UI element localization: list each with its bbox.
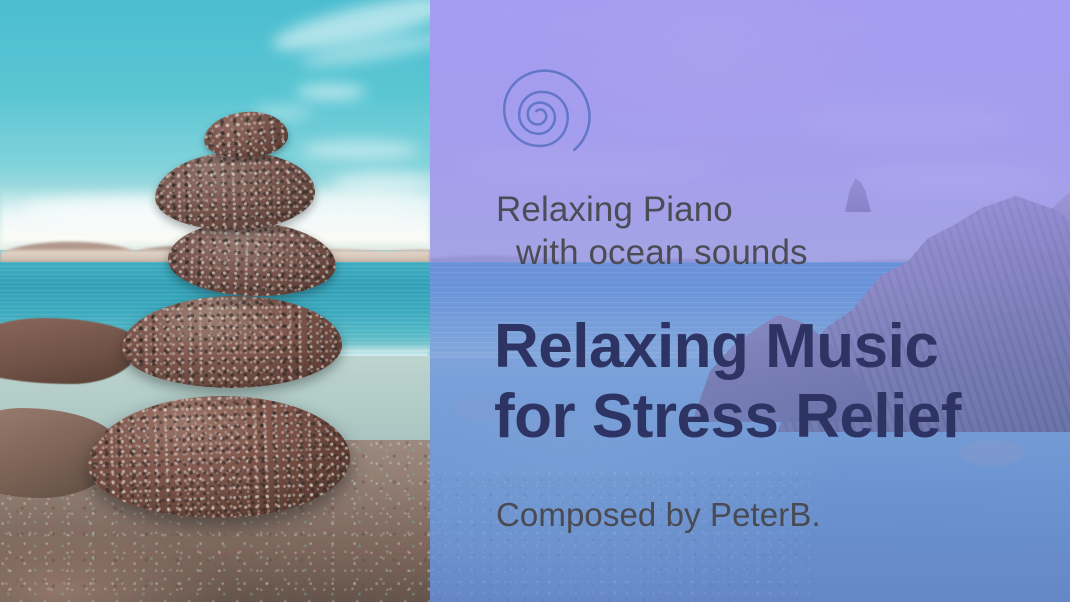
album-cover: Relaxing Piano with ocean sounds Relaxin… xyxy=(0,0,1070,602)
composer-credit: Composed by PeterB. xyxy=(496,494,1056,536)
subtitle-line-2: with ocean sounds xyxy=(496,231,1056,274)
subtitle-line-1: Relaxing Piano xyxy=(496,188,1056,231)
spiral-icon xyxy=(498,60,594,162)
title-line-1: Relaxing Music xyxy=(494,312,1064,382)
subtitle: Relaxing Piano with ocean sounds xyxy=(496,188,1056,274)
page-title: Relaxing Music for Stress Relief xyxy=(494,312,1064,452)
cover-text-block: Relaxing Piano with ocean sounds Relaxin… xyxy=(430,0,1070,602)
cloud-wisp xyxy=(296,84,366,100)
title-line-2: for Stress Relief xyxy=(494,382,1064,452)
cloud-wisp xyxy=(300,140,420,160)
zen-stone-photo xyxy=(0,0,430,602)
